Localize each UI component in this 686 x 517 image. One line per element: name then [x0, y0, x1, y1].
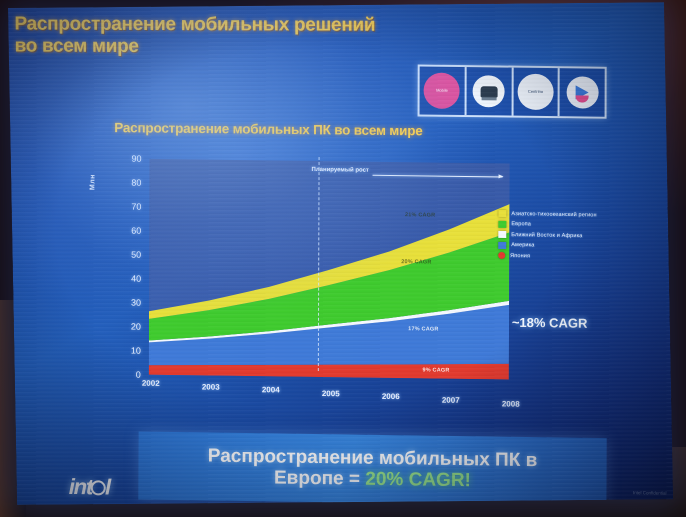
mobile-badge-icon: Mobile [424, 73, 460, 109]
stacked-area-chart: Млн 9080706050403020100 Планируемый рост… [91, 152, 572, 418]
media-badge-icon [566, 76, 598, 108]
x-axis-tick: 2008 [502, 399, 520, 408]
x-axis-tick: 2005 [322, 389, 340, 398]
legend-item: Америка [498, 241, 648, 250]
legend-swatch-icon [498, 241, 506, 248]
banner-line-1: Распространение мобильных ПК в [208, 445, 538, 471]
page-title-line-1: Распространение мобильных решений [14, 14, 414, 38]
y-axis-title: Млн [89, 174, 96, 190]
x-axis-tick: 2002 [142, 379, 160, 388]
banner-line-2: Европе = 20% CAGR! [274, 467, 471, 491]
x-axis-tick: 2004 [262, 385, 280, 394]
badge-strip: Mobile Centrino [418, 64, 607, 118]
photographed-scene: Распространение мобильных решений во все… [0, 0, 686, 517]
y-axis-tick: 90 [106, 153, 142, 163]
projection-screen: Распространение мобильных решений во все… [8, 2, 673, 505]
band-cagr-japan: 9% CAGR [422, 368, 449, 374]
legend-item: Европа [498, 220, 648, 229]
y-axis: 9080706050403020100 [105, 152, 142, 374]
centrino-badge-icon: Centrino [517, 74, 553, 110]
legend-swatch-icon [498, 231, 506, 238]
y-axis-tick: 60 [105, 225, 141, 235]
presentation-slide: Распространение мобильных решений во все… [8, 2, 673, 505]
area-series-svg [149, 159, 510, 380]
band-cagr-asia: 21% CAGR [405, 212, 435, 218]
device-badge-icon [473, 75, 505, 107]
legend-item: Азиатско-тихоокеанский регион [498, 210, 648, 219]
x-axis-tick: 2003 [202, 382, 220, 391]
intel-swirl-icon [91, 480, 106, 495]
legend-swatch-icon [498, 220, 506, 227]
y-axis-tick: 30 [105, 297, 141, 307]
x-axis-tick: 2006 [382, 392, 400, 401]
x-axis: 2002200320042005200620072008 [149, 379, 521, 418]
y-axis-tick: 50 [105, 249, 141, 259]
legend-item: Ближний Восток и Африка [498, 231, 648, 240]
legend-swatch-icon [498, 210, 506, 217]
confidential-note: Intel Confidential [633, 490, 667, 495]
badge-item-media [560, 68, 605, 117]
play-triangle-icon [576, 85, 589, 99]
chart-legend: Азиатско-тихоокеанский регионЕвропаБлижн… [498, 210, 648, 265]
intel-logo: intl [69, 474, 110, 501]
banner-accent-text: 20% CAGR! [365, 469, 471, 491]
legend-item: Япония [498, 252, 648, 261]
legend-label: Азиатско-тихоокеанский регион [511, 211, 596, 218]
banner-line-2-prefix: Европе = [274, 467, 365, 489]
legend-label: Америка [511, 242, 534, 248]
page-title-line-2: во всем мире [15, 36, 415, 60]
band-cagr-americas: 17% CAGR [408, 326, 438, 332]
y-axis-tick: 0 [105, 369, 141, 379]
legend-swatch-icon [498, 252, 505, 259]
y-axis-tick: 20 [105, 321, 141, 331]
legend-label: Европа [511, 221, 531, 227]
page-title: Распространение мобильных решений во все… [14, 14, 414, 60]
y-axis-tick: 40 [105, 273, 141, 283]
band-cagr-europe: 20% CAGR [401, 259, 431, 265]
summary-banner: Распространение мобильных ПК в Европе = … [138, 432, 606, 505]
projected-growth-label: Планируемый рост [312, 167, 369, 174]
legend-label: Япония [510, 253, 530, 259]
chart-title: Распространение мобильных ПК во всем мир… [114, 120, 422, 138]
y-axis-tick: 70 [105, 201, 141, 211]
badge-item-mobile: Mobile [420, 66, 467, 115]
plot-area: Планируемый рост 21% CAGR 20% CAGR 17% C… [149, 159, 510, 380]
y-axis-tick: 80 [105, 177, 141, 187]
legend-label: Ближний Восток и Африка [511, 232, 582, 239]
x-axis-tick: 2007 [442, 396, 460, 405]
total-cagr-callout: ~18% CAGR [512, 315, 588, 331]
y-axis-tick: 10 [105, 345, 141, 355]
badge-item-device [466, 67, 513, 116]
badge-item-centrino: Centrino [513, 68, 560, 117]
laptop-icon [480, 86, 497, 97]
